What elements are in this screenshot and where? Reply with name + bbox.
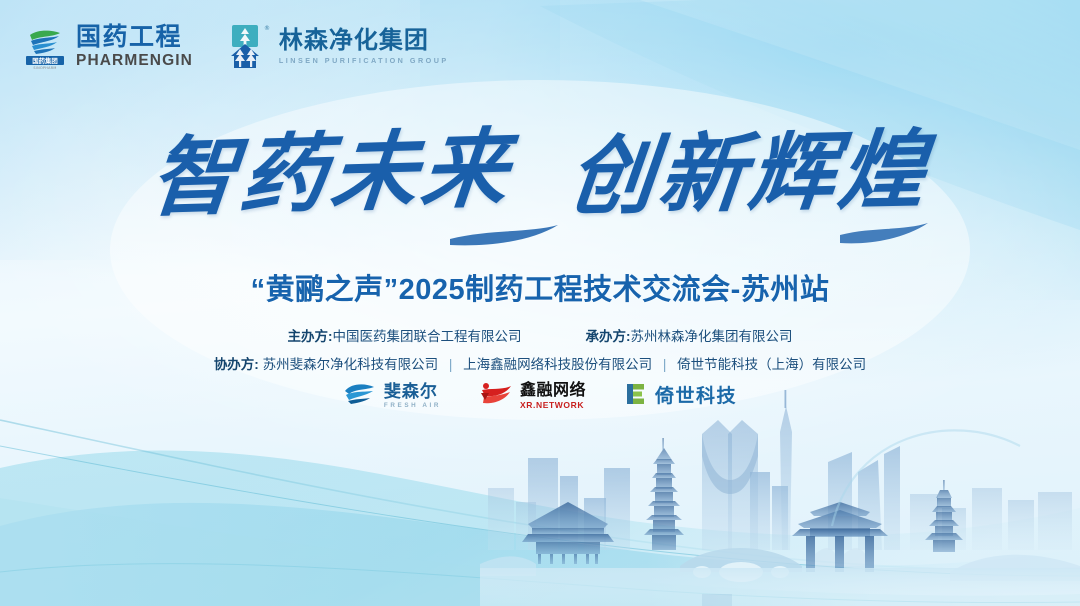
coorganizer-3: 倚世节能科技（上海）有限公司 bbox=[677, 357, 866, 372]
logo-linsen-purification-group: ® 林森净化集团 LINSEN PURIFICATION GROUP bbox=[219, 22, 449, 72]
headline-left: 智药未来 bbox=[146, 123, 516, 226]
undertaker-label: 承办方: bbox=[586, 329, 631, 344]
fresh-air-logo-icon bbox=[343, 381, 377, 412]
svg-text:SINOPHARM: SINOPHARM bbox=[33, 66, 56, 70]
linsen-logo-icon: ® bbox=[219, 22, 271, 72]
xr-network-name-en: XR.NETWORK bbox=[520, 401, 586, 410]
coorganizer-row: 协办方: 苏州斐森尔净化科技有限公司 | 上海鑫融网络科技股份有限公司 | 倚世… bbox=[0, 353, 1080, 373]
hero-headline: 智药未来 创新辉煌 bbox=[0, 128, 1080, 221]
linsen-name-cn: 林森净化集团 bbox=[279, 29, 449, 53]
logo-sinopharm-pharmengin: 国药集团 SINOPHARM 国药工程 PHARMENGIN bbox=[22, 24, 193, 70]
yishi-tech-logo-icon bbox=[624, 381, 648, 412]
xr-network-logo-icon bbox=[479, 381, 513, 412]
sponsor-fresh-air: 斐森尔 FRESH AIR bbox=[343, 381, 441, 412]
coorganizer-separator-2: | bbox=[656, 357, 674, 372]
registered-trademark-icon: ® bbox=[264, 25, 270, 32]
host-organizer: 主办方:中国医药集团联合工程有限公司 bbox=[288, 325, 522, 345]
sinopharm-logo-icon: 国药集团 SINOPHARM bbox=[22, 24, 68, 70]
sinopharm-name-en: PHARMENGIN bbox=[76, 53, 193, 69]
event-banner: 国药集团 SINOPHARM 国药工程 PHARMENGIN ® bbox=[0, 0, 1080, 606]
headline-right: 创新辉煌 bbox=[564, 124, 934, 224]
organizer-row: 主办方:中国医药集团联合工程有限公司 承办方:苏州林森净化集团有限公司 bbox=[0, 325, 1080, 345]
coorganizer-separator-1: | bbox=[442, 357, 460, 372]
host-label: 主办方: bbox=[288, 329, 333, 344]
sponsor-xr-network: 鑫融网络 XR.NETWORK bbox=[479, 381, 586, 412]
host-value: 中国医药集团联合工程有限公司 bbox=[333, 329, 522, 344]
linsen-name-en: LINSEN PURIFICATION GROUP bbox=[279, 57, 449, 64]
undertaker-organizer: 承办方:苏州林森净化集团有限公司 bbox=[586, 325, 793, 345]
xr-network-name-cn: 鑫融网络 bbox=[520, 383, 586, 399]
yishi-tech-name-cn: 倚世科技 bbox=[655, 387, 737, 406]
sinopharm-name-cn: 国药工程 bbox=[76, 25, 193, 50]
coorganizer-label: 协办方: bbox=[214, 357, 259, 372]
coorganizer-2: 上海鑫融网络科技股份有限公司 bbox=[463, 357, 652, 372]
header-logo-bar: 国药集团 SINOPHARM 国药工程 PHARMENGIN ® bbox=[22, 22, 449, 72]
sponsor-yishi-tech: 倚世科技 bbox=[624, 381, 737, 412]
fresh-air-name-en: FRESH AIR bbox=[384, 403, 441, 409]
coorganizer-1: 苏州斐森尔净化科技有限公司 bbox=[263, 357, 439, 372]
event-subtitle: “黄鹂之声”2025制药工程技术交流会-苏州站 bbox=[0, 266, 1080, 308]
svg-text:国药集团: 国药集团 bbox=[32, 56, 58, 65]
sponsor-logo-row: 斐森尔 FRESH AIR 鑫融网络 XR.NETWORK bbox=[0, 381, 1080, 412]
undertaker-value: 苏州林森净化集团有限公司 bbox=[631, 329, 793, 344]
fresh-air-name-cn: 斐森尔 bbox=[384, 383, 441, 400]
